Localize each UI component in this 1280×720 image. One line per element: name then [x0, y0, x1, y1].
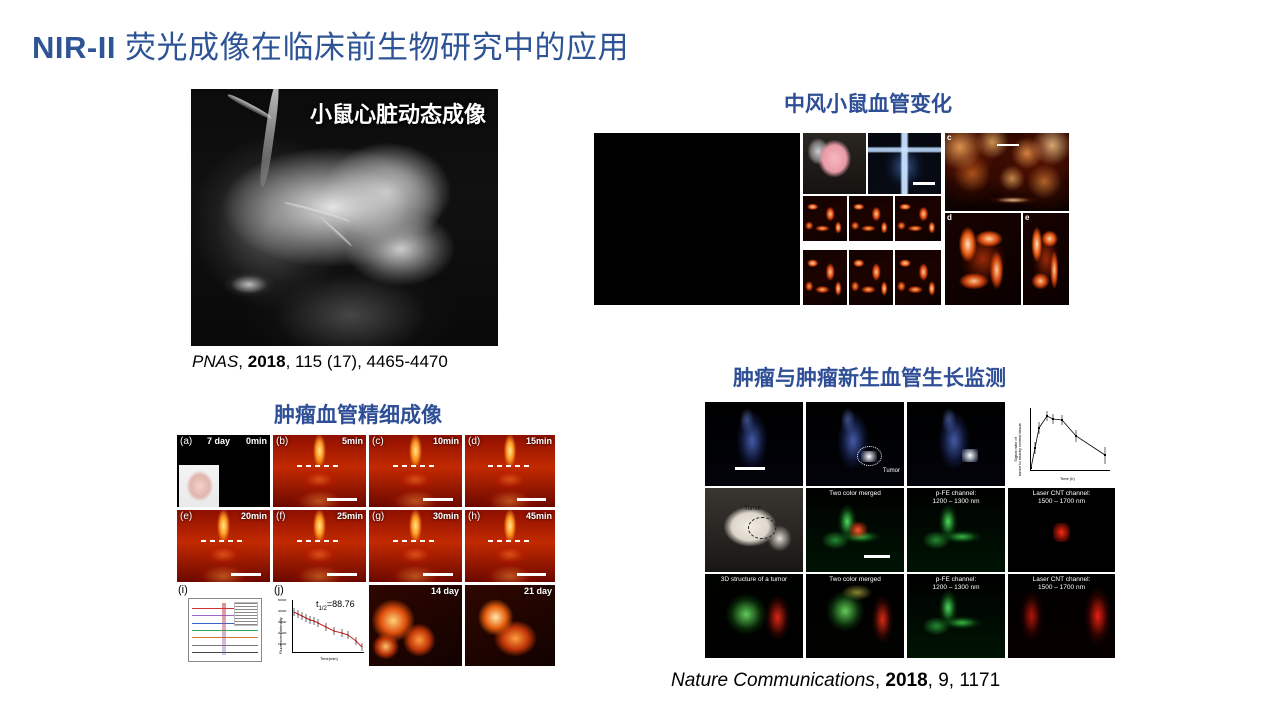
vessel-depth-tile — [895, 250, 941, 305]
pfe-channel-tile: p-FE channel: 1200 – 1300 nm — [907, 574, 1005, 658]
measurement-line — [201, 540, 246, 542]
scale-bar — [864, 555, 890, 558]
scale-bar — [423, 573, 453, 576]
tumor-signal — [1053, 523, 1070, 541]
vessel-depth-tile — [803, 196, 847, 241]
scale-bar — [735, 467, 765, 470]
decay-plot-container: (j) Fluorescent intensity 50000 40000 30… — [272, 584, 367, 667]
depth-label: z = 658.8 µm — [895, 241, 941, 246]
section-heading-tumor-vessel: 肿瘤血管精细成像 — [274, 399, 442, 429]
tumor-fluorescence-tile — [907, 402, 1005, 486]
tumor-fluorescence-tile — [705, 402, 803, 486]
panel-letter: (g) — [372, 511, 384, 522]
tumor-growth-monitoring-figure: Tumor Signal ratio of tumor to nearby no… — [705, 402, 1115, 658]
scale-bar — [997, 144, 1019, 146]
scale-bar — [913, 182, 935, 185]
time-label: 0min — [246, 436, 267, 446]
spectral-peak — [222, 603, 226, 655]
scale-bar — [517, 498, 546, 501]
tile-caption: Two color merged — [806, 490, 904, 498]
wide-field-vessel-image: c — [945, 133, 1069, 211]
vessel-depth-tile — [849, 196, 893, 241]
tumor-3d-structure-tile: 3D structure of a tumor — [705, 574, 803, 658]
tumor-signal — [962, 449, 978, 462]
tumor-vessel-tile: (e) 20min — [176, 509, 271, 583]
panel-letter: (j) — [274, 584, 284, 596]
tile-caption: p-FE channel: 1200 – 1300 nm — [907, 490, 1005, 506]
vessel-depth-tile — [895, 196, 941, 241]
laser-cnt-channel-tile: Laser CNT channel: 1500 – 1700 nm — [1008, 574, 1115, 658]
panel-letter: (b) — [276, 436, 288, 447]
tumor-vessel-tile: (h) 45min — [464, 509, 556, 583]
measurement-line — [488, 465, 531, 467]
panel-letter: (d) — [468, 436, 480, 447]
tumor-vessel-tile: (b) 5min — [272, 434, 367, 508]
y-tick: 10000 — [278, 642, 286, 646]
y-tick: 30000 — [278, 620, 286, 624]
tile-caption: Laser CNT channel: 1500 – 1700 nm — [1008, 490, 1115, 506]
stroke-vessel-composite-figure: z = 221.4 µm z = 437.4 µm z = 658.8 µm c… — [803, 133, 1069, 305]
measurement-line — [297, 540, 342, 542]
panel-letter: (a) — [180, 436, 192, 447]
tile-caption: Two color merged — [806, 576, 904, 584]
y-tick: 40000 — [278, 609, 286, 613]
panel-letter: (i) — [178, 584, 188, 596]
vessel-3d-render-e: e — [1023, 213, 1069, 305]
depth-label: z = 437.4 µm — [849, 241, 893, 246]
y-tick: 50000 — [278, 598, 286, 602]
time-label: 30min — [433, 511, 459, 521]
tumor-signal — [849, 522, 867, 539]
tumor-label: Tumor — [883, 468, 900, 474]
vessel-streak — [258, 89, 281, 187]
time-label: 5min — [342, 436, 363, 446]
tile-caption: 3D structure of a tumor — [705, 576, 803, 584]
citation-nature-communications: Nature Communications, 2018, 9, 1171 — [671, 670, 1000, 692]
vessel-depth-tile — [849, 250, 893, 305]
citation-pnas: PNAS, 2018, 115 (17), 4465-4470 — [192, 352, 448, 372]
time-label: 15min — [526, 436, 552, 446]
tile-caption: Laser CNT channel: 1500 – 1700 nm — [1008, 576, 1115, 592]
two-color-merged-tile: Two color merged — [806, 488, 904, 572]
mouse-photo-inset — [179, 465, 219, 507]
x-axis — [1030, 470, 1110, 471]
panel-letter-d: d — [947, 213, 952, 222]
panel-letter: (h) — [468, 511, 480, 522]
halflife-value: =88.76 — [327, 599, 355, 609]
x-axis-label: Time (h) — [1060, 476, 1075, 481]
day-label: 21 day — [524, 586, 552, 596]
scale-bar — [517, 573, 546, 576]
tumor-vessel-tile: (f) 25min — [272, 509, 367, 583]
mouse-head-photo — [803, 133, 866, 194]
tumor-vessel-tile: 21 day — [464, 584, 556, 667]
citation-year: 2018 — [885, 670, 927, 691]
vessel-3d-render-d: d — [945, 213, 1021, 305]
heart-overlay-caption: 小鼠心脏动态成像 — [310, 97, 486, 129]
section-heading-tumor-growth: 肿瘤与肿瘤新生血管生长监测 — [733, 362, 1006, 392]
tumor-vessel-tile: (g) 30min — [368, 509, 463, 583]
signal-ratio-line — [1030, 408, 1110, 470]
citation-rest: , 9, 1171 — [928, 670, 1001, 691]
vessel-streak — [284, 201, 350, 224]
time-label: 10min — [433, 436, 459, 446]
mouse-photo-tile: Tumor — [705, 488, 803, 572]
citation-journal: PNAS — [192, 352, 238, 371]
citation-year: 2018 — [248, 352, 286, 371]
halflife-annotation: t1/2=88.76 — [316, 599, 355, 612]
pfe-channel-tile: p-FE channel: 1200 – 1300 nm — [907, 488, 1005, 572]
title-rest: 荧光成像在临床前生物研究中的应用 — [116, 30, 629, 65]
page-title: NIR-II 荧光成像在临床前生物研究中的应用 — [32, 22, 629, 67]
panel-letter-e: e — [1025, 213, 1029, 222]
day-label: 7 day — [207, 436, 230, 446]
panel-letter: (f) — [276, 511, 285, 522]
skull-vasculature-image — [868, 133, 941, 194]
y-axis-label: Signal ratio of tumor to nearby normal t… — [1014, 423, 1023, 476]
time-label: 20min — [241, 511, 267, 521]
halflife-subscript: 1/2 — [319, 606, 327, 612]
day-label: 14 day — [431, 586, 459, 596]
scale-bar — [327, 573, 357, 576]
spectra-legend — [234, 602, 258, 626]
panel-letter-c: c — [947, 133, 951, 142]
tumor-label: Tumor — [744, 506, 761, 512]
laser-cnt-channel-tile: Laser CNT channel: 1500 – 1700 nm — [1008, 488, 1115, 572]
tumor-vessel-tile: 14 day — [368, 584, 463, 667]
citation-sep: , — [238, 352, 247, 371]
vessel-depth-tile — [803, 250, 847, 305]
panel-letter: (e) — [180, 511, 192, 522]
tumor-outline — [748, 517, 775, 539]
heart-dynamic-imaging-figure: 小鼠心脏动态成像 — [191, 89, 498, 346]
measurement-line — [297, 465, 342, 467]
time-label: 45min — [526, 511, 552, 521]
signal-ratio-chart: Signal ratio of tumor to nearby normal t… — [1008, 402, 1115, 486]
tile-caption: p-FE channel: 1200 – 1300 nm — [907, 576, 1005, 592]
y-tick: 20000 — [278, 631, 286, 635]
scale-bar — [231, 573, 261, 576]
spectra-plot — [188, 598, 262, 662]
citation-journal: Nature Communications — [671, 670, 875, 691]
scale-bar — [423, 498, 453, 501]
tumor-fluorescence-tile: Tumor — [806, 402, 904, 486]
tumor-vessel-tile: (d) 15min — [464, 434, 556, 508]
measurement-line — [393, 540, 438, 542]
stroke-video-panel — [594, 133, 800, 305]
two-color-merged-tile: Two color merged — [806, 574, 904, 658]
spectra-plot-container: (i) — [176, 584, 271, 667]
tumor-vessel-tile: (a) 7 day 0min — [176, 434, 271, 508]
depth-label: z = 221.4 µm — [803, 241, 847, 246]
citation-sep: , — [875, 670, 886, 691]
x-axis — [292, 652, 364, 653]
tumor-vessel-tile: (c) 10min — [368, 434, 463, 508]
tumor-vessel-imaging-figure: (a) 7 day 0min (b) 5min (c) 10min (d) 15… — [176, 434, 556, 667]
section-heading-stroke: 中风小鼠血管变化 — [784, 88, 952, 118]
x-axis-label: Time(min) — [320, 656, 338, 661]
fluorescence-decay-plot: Fluorescent intensity 50000 40000 30000 … — [276, 596, 367, 664]
panel-letter: (c) — [372, 436, 384, 447]
tumor-signal — [861, 451, 877, 463]
measurement-line — [488, 540, 531, 542]
measurement-line — [393, 465, 438, 467]
citation-rest: , 115 (17), 4465-4470 — [286, 352, 448, 371]
time-label: 25min — [337, 511, 363, 521]
scale-bar — [327, 498, 357, 501]
vessel-streak — [226, 93, 272, 121]
title-lead: NIR-II — [32, 30, 116, 65]
